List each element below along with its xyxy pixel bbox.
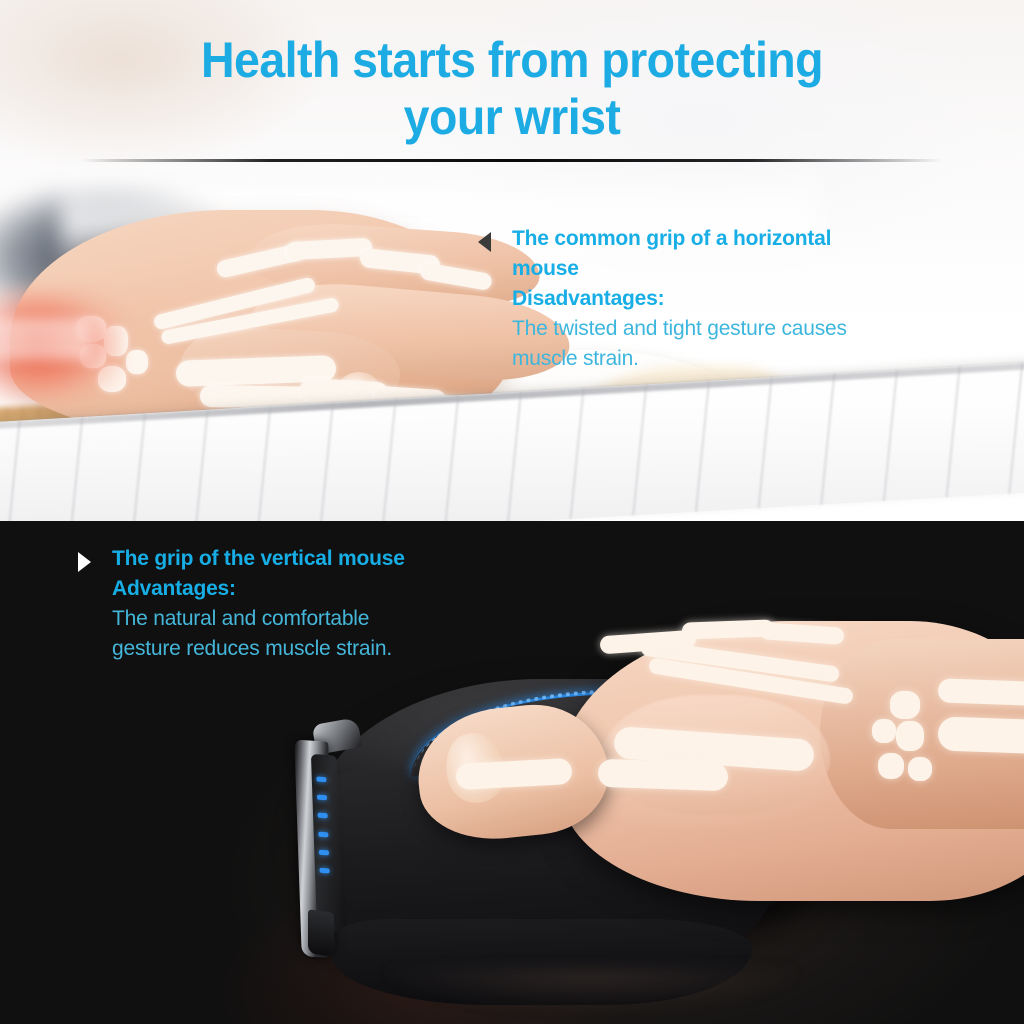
callout-top-body-1: The twisted and tight gesture causes bbox=[512, 314, 948, 344]
title-divider bbox=[82, 159, 942, 162]
callout-bottom-heading-2: Advantages: bbox=[112, 574, 528, 604]
bone-bot-carpal-5 bbox=[908, 757, 932, 781]
callout-bottom-heading-1: The grip of the vertical mouse bbox=[112, 544, 528, 574]
callout-vertical-mouse: The grip of the vertical mouse Advantage… bbox=[78, 544, 528, 664]
callout-top-heading-3: Disadvantages: bbox=[512, 284, 948, 314]
title-line-1: Health starts from protecting bbox=[36, 32, 988, 89]
callout-bottom-body-2: gesture reduces muscle strain. bbox=[112, 634, 528, 664]
callout-bottom-body-1: The natural and comfortable bbox=[112, 604, 528, 634]
top-panel: Health starts from protecting your wrist… bbox=[0, 0, 1024, 521]
wrist-strain-band bbox=[0, 318, 90, 360]
triangle-right-icon bbox=[78, 552, 91, 572]
bone-bot-carpal-3 bbox=[872, 719, 896, 743]
bone-bot-carpal-4 bbox=[878, 753, 904, 779]
product-poster: Health starts from protecting your wrist… bbox=[0, 0, 1024, 1024]
callout-top-heading-1: The common grip of a horizontal bbox=[512, 224, 948, 254]
triangle-left-icon bbox=[478, 232, 491, 252]
bone-carpal-5 bbox=[126, 350, 148, 374]
bone-bot-metacarpal-4 bbox=[598, 759, 729, 792]
callout-top-body-2: muscle strain. bbox=[512, 344, 948, 374]
vertical-mouse-reflection bbox=[382, 969, 802, 1011]
callout-horizontal-mouse: The common grip of a horizontal mouse Di… bbox=[478, 224, 948, 374]
bone-bot-carpal-2 bbox=[896, 721, 924, 751]
bone-bot-carpal-1 bbox=[890, 691, 920, 719]
callout-top-heading-2: mouse bbox=[512, 254, 948, 284]
page-title: Health starts from protecting your wrist bbox=[0, 32, 1024, 146]
bone-bot-radius bbox=[937, 716, 1024, 755]
bottom-panel: The grip of the vertical mouse Advantage… bbox=[0, 521, 1024, 1024]
vertical-mouse-foot bbox=[308, 909, 334, 957]
title-line-2: your wrist bbox=[36, 89, 988, 146]
